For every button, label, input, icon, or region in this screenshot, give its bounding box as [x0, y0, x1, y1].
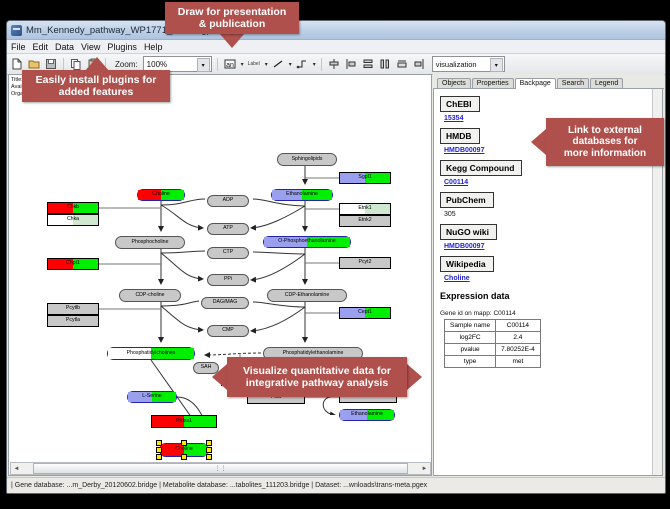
pathway-gene-etnk1[interactable]: Etnk1 [339, 203, 391, 215]
gene-label: Pcyt2 [359, 260, 372, 265]
expression-table: Sample nameC00114log2FC2.4pvalue7.80252E… [444, 319, 541, 368]
table-cell-value: met [496, 356, 541, 368]
align-left-icon[interactable] [344, 57, 358, 71]
table-row: log2FC2.4 [445, 332, 541, 344]
pathway-node-ethanolamine_top[interactable]: Ethanolamine [271, 189, 333, 201]
text-tool-icon[interactable]: an [223, 57, 237, 71]
table-cell-value: 2.4 [496, 332, 541, 344]
callout-visualize-arrow-right-icon [407, 364, 422, 390]
save-icon[interactable] [44, 57, 58, 71]
selection-handle[interactable] [156, 440, 162, 446]
node-label: SAH [201, 365, 212, 370]
callout-links-line3: more information [564, 148, 646, 160]
align-center-icon[interactable] [327, 57, 341, 71]
tab-search[interactable]: Search [557, 78, 589, 88]
toolbar-separator [321, 58, 322, 71]
gene-label: Ptdss1 [176, 419, 192, 424]
backpage-link-nugo-wiki[interactable]: HMDB00097 [444, 243, 656, 250]
pathway-node-adp[interactable]: ADP [207, 195, 249, 207]
pathway-node-atp[interactable]: ATP [207, 223, 249, 235]
table-cell-value: C00114 [496, 320, 541, 332]
backpage-link-wikipedia[interactable]: Choline [444, 275, 656, 282]
selection-handle[interactable] [181, 454, 187, 460]
distribute-horizontal-icon[interactable] [378, 57, 392, 71]
distribute-vertical-icon[interactable] [361, 57, 375, 71]
table-cell-value: 7.80252E-4 [496, 344, 541, 356]
pathway-node-ethanolamine_right[interactable]: Ethanolamine [339, 409, 395, 421]
callout-plugins: Easily install plugins for added feature… [22, 70, 170, 102]
selection-handle[interactable] [156, 454, 162, 460]
menu-item-plugins[interactable]: Plugins [107, 42, 137, 52]
menu-item-file[interactable]: File [11, 42, 26, 52]
copy-icon[interactable] [69, 57, 83, 71]
gene-label: Chpt1 [66, 261, 80, 266]
canvas-horizontal-scrollbar[interactable]: ◄ ⋮⋮ ► [10, 462, 431, 475]
label-tool-icon[interactable]: Label [247, 57, 261, 71]
callout-draw-line1: Draw for presentation [178, 6, 287, 18]
table-cell-key: log2FC [445, 332, 496, 344]
table-row: pvalue7.80252E-4 [445, 344, 541, 356]
pathvisio-icon [11, 25, 22, 36]
screenshot-root: Mm_Kennedy_pathway_WP1771_45176.gpml Fil… [0, 0, 670, 509]
backpage-section-header-nugo-wiki: NuGO wiki [440, 224, 497, 240]
callout-draw: Draw for presentation & publication [165, 2, 299, 34]
chevron-down-icon[interactable]: ▾ [197, 58, 210, 72]
svg-text:an: an [226, 62, 234, 69]
backpage-link-kegg-compound[interactable]: C00114 [444, 179, 656, 186]
visualization-combobox[interactable]: visualization ▾ [432, 56, 505, 72]
side-panel-tabs: Objects Properties Backpage Search Legen… [433, 74, 664, 89]
node-label: ATP [223, 226, 233, 231]
gene-label: Sgpl1 [358, 175, 371, 180]
callout-visualize-arrow-left-icon [212, 364, 227, 390]
pathway-node-choline_top[interactable]: Choline [137, 189, 185, 201]
connector-tool-icon[interactable] [295, 57, 309, 71]
backpage-section-header-wikipedia: Wikipedia [440, 256, 494, 272]
node-label: Sphingolipids [292, 157, 323, 162]
toolbar-separator [63, 58, 64, 71]
pathway-gene-pcytlb[interactable]: Pcytlb [47, 303, 99, 315]
pathway-node-cdp_choline[interactable]: CDP-choline [119, 289, 181, 302]
tab-objects[interactable]: Objects [437, 78, 471, 88]
pathway-gene-chpt1[interactable]: Chpt1 [47, 258, 99, 270]
node-label: O-Phosphoethanolamine [278, 239, 335, 244]
pathway-node-cdp_ethanolamine[interactable]: CDP-Ethanolamine [267, 289, 347, 302]
status-bar: | Gene database: ...m_Derby_20120602.bri… [7, 477, 665, 493]
table-row: typemet [445, 356, 541, 368]
node-label: Choline [152, 192, 170, 197]
gene-label: Etnk2 [358, 218, 371, 223]
selection-handle[interactable] [206, 447, 212, 453]
expression-data-title: Expression data [440, 291, 656, 301]
pathway-canvas[interactable]: Title: Availa Organ [8, 74, 432, 476]
stack-icon[interactable] [395, 57, 409, 71]
visualization-value: visualization [436, 60, 477, 69]
pathway-gene-chkb[interactable]: Chkb [47, 202, 99, 214]
pathway-node-ctp[interactable]: CTP [207, 247, 249, 259]
pathway-node-o_phosphoethanolamine[interactable]: O-Phosphoethanolamine [263, 236, 351, 248]
gene-label: Etnk1 [358, 206, 371, 211]
selection-handle[interactable] [206, 454, 212, 460]
gene-label: Chka [67, 217, 79, 222]
gene-label: Pcytla [66, 318, 80, 323]
tab-backpage[interactable]: Backpage [515, 78, 556, 89]
new-document-icon[interactable] [10, 57, 24, 71]
menu-item-data[interactable]: Data [55, 42, 74, 52]
callout-visualize-line2: integrative pathway analysis [243, 377, 391, 389]
table-cell-key: Sample name [445, 320, 496, 332]
menu-item-view[interactable]: View [81, 42, 100, 52]
pathway-gene-etnk2[interactable]: Etnk2 [339, 215, 391, 227]
selection-handle[interactable] [156, 447, 162, 453]
node-label: ADP [223, 198, 234, 203]
zoom-value: 100% [147, 60, 167, 69]
callout-links-arrow-icon [531, 129, 546, 155]
node-label: L-Serine [142, 394, 162, 399]
menu-item-edit[interactable]: Edit [33, 42, 49, 52]
chevron-down-icon[interactable]: ▾ [313, 61, 316, 68]
tab-legend[interactable]: Legend [590, 78, 623, 88]
tab-properties[interactable]: Properties [472, 78, 514, 88]
node-label: Phosphocholine [132, 240, 169, 245]
gene-label: Chkb [67, 205, 79, 210]
backpage-section-header-chebi: ChEBI [440, 96, 480, 112]
node-label: Phosphatidylethanolamine [283, 351, 344, 356]
scroll-left-arrow-icon[interactable]: ◄ [11, 464, 22, 473]
pathway-node-sphingolipids[interactable]: Sphingolipids [277, 153, 337, 166]
callout-visualize: Visualize quantitative data for integrat… [227, 357, 407, 397]
pathway-gene-chka[interactable]: Chka [47, 214, 99, 226]
backpage-section-header-hmdb: HMDB [440, 128, 480, 144]
gene-label: Pcytlb [66, 306, 80, 311]
chevron-down-icon[interactable]: ▾ [265, 61, 268, 68]
toolbar-separator [217, 58, 218, 71]
node-label: Phosphatidylcholines [127, 351, 176, 356]
callout-visualize-line1: Visualize quantitative data for [243, 365, 391, 377]
callout-draw-line2: & publication [178, 18, 287, 30]
pathway-gene-ptdss1[interactable]: Ptdss1 [151, 415, 217, 428]
node-label: CDP-Ethanolamine [285, 293, 329, 298]
title-bar: Mm_Kennedy_pathway_WP1771_45176.gpml [7, 21, 665, 40]
chevron-down-icon[interactable]: ▾ [289, 61, 292, 68]
pathway-node-l_serine_left[interactable]: L-Serine [127, 391, 177, 403]
node-label: PPi [224, 277, 232, 282]
callout-draw-arrow-icon [219, 33, 245, 48]
backpage-section-header-pubchem: PubChem [440, 192, 494, 208]
align-right-icon[interactable] [412, 57, 426, 71]
scroll-thumb[interactable]: ⋮⋮ [33, 463, 408, 474]
open-folder-icon[interactable] [27, 57, 41, 71]
node-label: CMP [222, 328, 234, 333]
scroll-right-arrow-icon[interactable]: ► [419, 464, 430, 473]
node-label: Ethanolamine [351, 412, 383, 417]
chevron-down-icon[interactable]: ▾ [241, 61, 244, 68]
pathway-gene-pcytla[interactable]: Pcytla [47, 315, 99, 327]
callout-links-line2: databases for [564, 136, 646, 148]
status-text: | Gene database: ...m_Derby_20120602.bri… [11, 482, 427, 489]
pathway-gene-sgpl1[interactable]: Sgpl1 [339, 172, 391, 184]
pathway-node-dagmag[interactable]: DAG/MAG [201, 297, 249, 309]
callout-plugins-line1: Easily install plugins for [36, 74, 157, 86]
node-label: CTP [223, 250, 233, 255]
selection-handle[interactable] [206, 440, 212, 446]
pathway-node-phosphatidylcholines[interactable]: Phosphatidylcholines [107, 347, 195, 360]
backpage-value-pubchem: 305 [444, 211, 656, 218]
chevron-down-icon[interactable]: ▾ [490, 58, 503, 72]
gene-id-on-mapp: Gene id on mapp: C00114 [440, 310, 656, 317]
pathway-gene-cept1[interactable]: Cept1 [339, 307, 391, 319]
pathway-node-phosphocholine[interactable]: Phosphocholine [115, 236, 185, 249]
menu-bar: File Edit Data View Plugins Help [7, 40, 665, 54]
table-row: Sample nameC00114 [445, 320, 541, 332]
menu-item-help[interactable]: Help [144, 42, 163, 52]
pathway-gene-pcyt2[interactable]: Pcyt2 [339, 257, 391, 269]
callout-plugins-line2: added features [36, 86, 157, 98]
table-cell-key: type [445, 356, 496, 368]
node-label: Choline [175, 447, 193, 452]
zoom-label: Zoom: [115, 60, 138, 69]
node-label: Ethanolamine [286, 192, 318, 197]
table-cell-key: pvalue [445, 344, 496, 356]
node-label: DAG/MAG [213, 300, 238, 305]
node-label: CDP-choline [135, 293, 164, 298]
pathway-node-ppi[interactable]: PPi [207, 274, 249, 286]
backpage-section-header-kegg-compound: Kegg Compound [440, 160, 522, 176]
line-tool-icon[interactable] [271, 57, 285, 71]
callout-links: Link to external databases for more info… [546, 118, 664, 166]
pathway-node-cmp[interactable]: CMP [207, 325, 249, 337]
gene-label: Cept1 [358, 310, 372, 315]
selection-handle[interactable] [181, 440, 187, 446]
callout-links-line1: Link to external [564, 125, 646, 137]
